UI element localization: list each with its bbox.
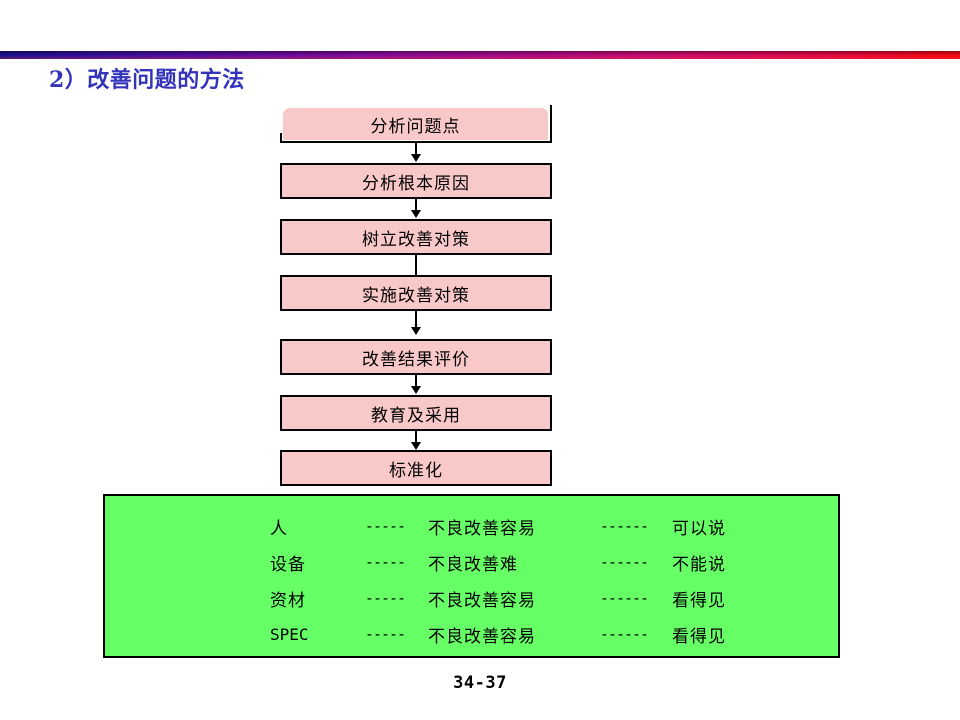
flow-step-2[interactable]: 分析根本原因 <box>280 163 552 199</box>
flow-step-7-label: 标准化 <box>389 456 443 481</box>
summary-dash-left: ----- <box>342 589 428 607</box>
summary-subject: SPEC <box>270 625 342 644</box>
flow-step-4-label: 实施改善对策 <box>362 281 470 306</box>
summary-row: SPEC ----- 不良改善容易 ------ 看得见 <box>270 616 726 652</box>
flow-step-5-label: 改善结果评价 <box>362 345 470 370</box>
flow-arrow-5-6 <box>411 386 421 394</box>
flow-arrow-4-5 <box>411 327 421 335</box>
flow-step-7[interactable]: 标准化 <box>280 450 552 486</box>
flow-step-6[interactable]: 教育及采用 <box>280 395 552 431</box>
summary-dash-right: ------ <box>576 517 672 535</box>
page-number: 34-37 <box>0 673 960 693</box>
summary-row: 资材 ----- 不良改善容易 ------ 看得见 <box>270 580 726 616</box>
flow-arrow-2-3 <box>411 210 421 218</box>
flow-arrow-1-2 <box>411 154 421 162</box>
flow-step-1-label: 分析问题点 <box>371 112 461 137</box>
flow-step-2-label: 分析根本原因 <box>362 169 470 194</box>
flow-step-4[interactable]: 实施改善对策 <box>280 275 552 311</box>
summary-result: 不能说 <box>672 550 726 575</box>
summary-subject: 设备 <box>270 550 342 575</box>
flow-step-1-left-stub <box>280 133 282 143</box>
flow-step-3[interactable]: 树立改善对策 <box>280 219 552 255</box>
summary-middle: 不良改善难 <box>428 550 576 575</box>
summary-box: 人 ----- 不良改善容易 ------ 可以说 设备 ----- 不良改善难… <box>103 494 840 658</box>
summary-dash-left: ----- <box>342 625 428 643</box>
summary-subject: 资材 <box>270 586 342 611</box>
summary-result: 看得见 <box>672 622 726 647</box>
flow-arrow-6-7 <box>411 442 421 450</box>
flow-step-5[interactable]: 改善结果评价 <box>280 339 552 375</box>
summary-subject: 人 <box>270 514 342 539</box>
summary-dash-left: ----- <box>342 553 428 571</box>
summary-dash-left: ----- <box>342 517 428 535</box>
summary-middle: 不良改善容易 <box>428 514 576 539</box>
summary-row: 设备 ----- 不良改善难 ------ 不能说 <box>270 544 726 580</box>
summary-dash-right: ------ <box>576 625 672 643</box>
flow-step-6-label: 教育及采用 <box>371 401 461 426</box>
flow-step-3-label: 树立改善对策 <box>362 225 470 250</box>
summary-result: 看得见 <box>672 586 726 611</box>
flow-step-1-right-stub <box>550 105 552 143</box>
summary-dash-right: ------ <box>576 589 672 607</box>
summary-result: 可以说 <box>672 514 726 539</box>
summary-middle: 不良改善容易 <box>428 622 576 647</box>
summary-rows: 人 ----- 不良改善容易 ------ 可以说 设备 ----- 不良改善难… <box>270 508 726 652</box>
flow-step-1[interactable]: 分析问题点 <box>283 108 548 140</box>
summary-middle: 不良改善容易 <box>428 586 576 611</box>
summary-dash-right: ------ <box>576 553 672 571</box>
summary-row: 人 ----- 不良改善容易 ------ 可以说 <box>270 508 726 544</box>
